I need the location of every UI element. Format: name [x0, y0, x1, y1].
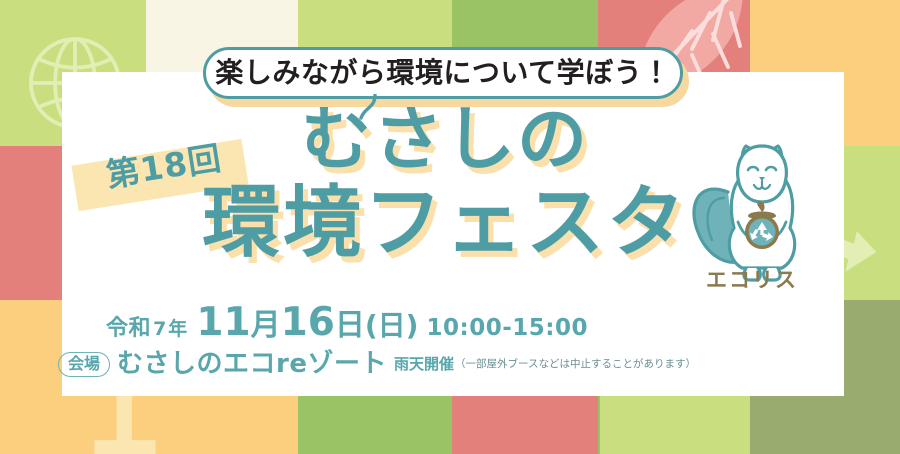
- venue-rain-note: （一部屋外ブースなどは中止することがあります）: [454, 359, 696, 370]
- event-poster: 楽しみながら環境について学ぼう！ 第18回 むさしの 環境フェスタ 令和 7 年…: [0, 0, 900, 454]
- date-day: 16: [281, 303, 335, 342]
- date-day-label: 日: [335, 311, 365, 341]
- date-day-of-week: (日): [365, 312, 427, 340]
- mascot-name-label: エコリス: [684, 270, 820, 291]
- date-month: 11: [196, 303, 250, 342]
- event-date-line: 令和 7 年 11 月 16 日 (日) 10:00-15:00: [62, 303, 632, 342]
- tagline-bubble-body: 楽しみながら環境について学ぼう！: [203, 47, 683, 99]
- tagline-text: 楽しみながら環境について学ぼう！: [215, 59, 670, 87]
- date-year-label: 年: [168, 320, 196, 339]
- date-month-label: 月: [251, 311, 281, 341]
- venue-rain-policy: 雨天開催: [387, 357, 454, 372]
- venue-name: むさしのエコreゾート: [117, 351, 387, 377]
- date-era: 令和: [106, 318, 151, 340]
- title-line-2: 環境フェスタ: [190, 184, 700, 270]
- event-venue-line: 会場 むさしのエコreゾート 雨天開催 （一部屋外ブースなどは中止することがあり…: [62, 351, 692, 377]
- event-title: むさしの 環境フェスタ: [190, 104, 700, 270]
- date-era-year: 7: [151, 320, 168, 339]
- date-time-range: 10:00-15:00: [426, 317, 587, 340]
- title-line-1: むさしの: [190, 104, 700, 178]
- bubble-tail-icon: [355, 94, 381, 120]
- venue-pill-label: 会場: [58, 352, 110, 377]
- tagline-bubble: 楽しみながら環境について学ぼう！: [203, 47, 683, 99]
